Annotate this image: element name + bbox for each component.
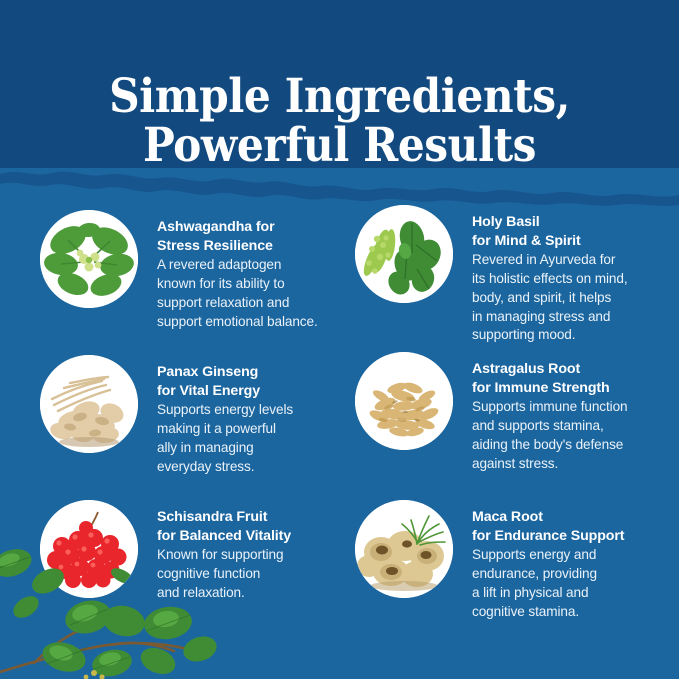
- card-title: Holy Basil for Mind & Spirit: [472, 213, 628, 250]
- card-description: Supports energy and endurance, providing…: [472, 546, 624, 621]
- desc-line: in managing stress and: [472, 309, 610, 324]
- card-description: Supports energy levels making it a power…: [157, 401, 293, 476]
- desc-line: and supports stamina,: [472, 418, 604, 433]
- card-title-line2: for Endurance Support: [472, 528, 624, 544]
- page-title-line1: Simple Ingredients,: [109, 69, 570, 124]
- card-text: Holy Basil for Mind & Spirit Revered in …: [472, 205, 628, 345]
- desc-line: Supports immune function: [472, 399, 628, 414]
- ingredients-infographic: Simple Ingredients, Powerful Results: [0, 0, 679, 679]
- ingredient-card-maca-root: Maca Root for Endurance Support Supports…: [355, 500, 670, 621]
- ashwagandha-plant-photo: [40, 210, 138, 308]
- card-text: Ashwagandha for Stress Resilience A reve…: [157, 210, 318, 331]
- desc-line: cognitive function: [157, 566, 260, 581]
- card-description: Known for supporting cognitive function …: [157, 546, 291, 602]
- desc-line: Supports energy levels: [157, 402, 293, 417]
- desc-line: a lift in physical and: [472, 585, 588, 600]
- card-title-line2: for Balanced Vitality: [157, 528, 291, 544]
- card-title-line1: Holy Basil: [472, 214, 540, 230]
- card-title-line2: for Vital Energy: [157, 383, 260, 399]
- desc-line: support emotional balance.: [157, 314, 318, 329]
- page-title-line2: Powerful Results: [34, 122, 645, 170]
- ingredient-card-ashwagandha: Ashwagandha for Stress Resilience A reve…: [40, 210, 350, 331]
- desc-line: Supports energy and: [472, 547, 596, 562]
- desc-line: against stress.: [472, 456, 558, 471]
- maca-root-photo: [355, 500, 453, 598]
- desc-line: A revered adaptogen: [157, 257, 281, 272]
- card-title: Schisandra Fruit for Balanced Vitality: [157, 508, 291, 545]
- card-title: Panax Ginseng for Vital Energy: [157, 363, 293, 400]
- card-title-line1: Schisandra Fruit: [157, 509, 267, 525]
- desc-line: endurance, providing: [472, 566, 597, 581]
- card-title: Astragalus Root for Immune Strength: [472, 360, 628, 397]
- card-text: Schisandra Fruit for Balanced Vitality K…: [157, 500, 291, 603]
- holy-basil-leaves-photo: [355, 205, 453, 303]
- desc-line: supporting mood.: [472, 327, 575, 342]
- card-title-line1: Ashwagandha for: [157, 219, 275, 235]
- desc-line: known for its ability to: [157, 276, 285, 291]
- panax-ginseng-root-photo: [40, 355, 138, 453]
- card-description: Supports immune function and supports st…: [472, 398, 628, 473]
- ingredient-card-holy-basil: Holy Basil for Mind & Spirit Revered in …: [355, 205, 670, 345]
- desc-line: making it a powerful: [157, 421, 276, 436]
- card-description: A revered adaptogen known for its abilit…: [157, 256, 318, 331]
- desc-line: ally in managing: [157, 440, 254, 455]
- ingredient-grid: Ashwagandha for Stress Resilience A reve…: [0, 200, 679, 679]
- ingredient-card-astragalus-root: Astragalus Root for Immune Strength Supp…: [355, 352, 670, 473]
- card-text: Maca Root for Endurance Support Supports…: [472, 500, 624, 621]
- card-text: Astragalus Root for Immune Strength Supp…: [472, 352, 628, 473]
- card-description: Revered in Ayurveda for its holistic eff…: [472, 251, 628, 345]
- desc-line: cognitive stamina.: [472, 604, 579, 619]
- desc-line: its holistic effects on mind,: [472, 271, 628, 286]
- page-title: Simple Ingredients, Powerful Results: [34, 73, 645, 170]
- desc-line: everyday stress.: [157, 459, 254, 474]
- card-title-line1: Panax Ginseng: [157, 364, 258, 380]
- desc-line: and relaxation.: [157, 585, 245, 600]
- card-title: Maca Root for Endurance Support: [472, 508, 624, 545]
- card-title: Ashwagandha for Stress Resilience: [157, 218, 318, 255]
- card-title-line2: for Mind & Spirit: [472, 233, 581, 249]
- card-title-line1: Maca Root: [472, 509, 543, 525]
- ingredient-card-panax-ginseng: Panax Ginseng for Vital Energy Supports …: [40, 355, 350, 476]
- desc-line: Known for supporting: [157, 547, 283, 562]
- desc-line: body, and spirit, it helps: [472, 290, 611, 305]
- astragalus-root-slices-photo: [355, 352, 453, 450]
- schisandra-berries-photo: [40, 500, 138, 598]
- desc-line: aiding the body's defense: [472, 437, 623, 452]
- card-text: Panax Ginseng for Vital Energy Supports …: [157, 355, 293, 476]
- desc-line: Revered in Ayurveda for: [472, 252, 615, 267]
- card-title-line2: Stress Resilience: [157, 238, 273, 254]
- desc-line: support relaxation and: [157, 295, 289, 310]
- card-title-line1: Astragalus Root: [472, 361, 580, 377]
- ingredient-card-schisandra-fruit: Schisandra Fruit for Balanced Vitality K…: [40, 500, 350, 603]
- card-title-line2: for Immune Strength: [472, 380, 610, 396]
